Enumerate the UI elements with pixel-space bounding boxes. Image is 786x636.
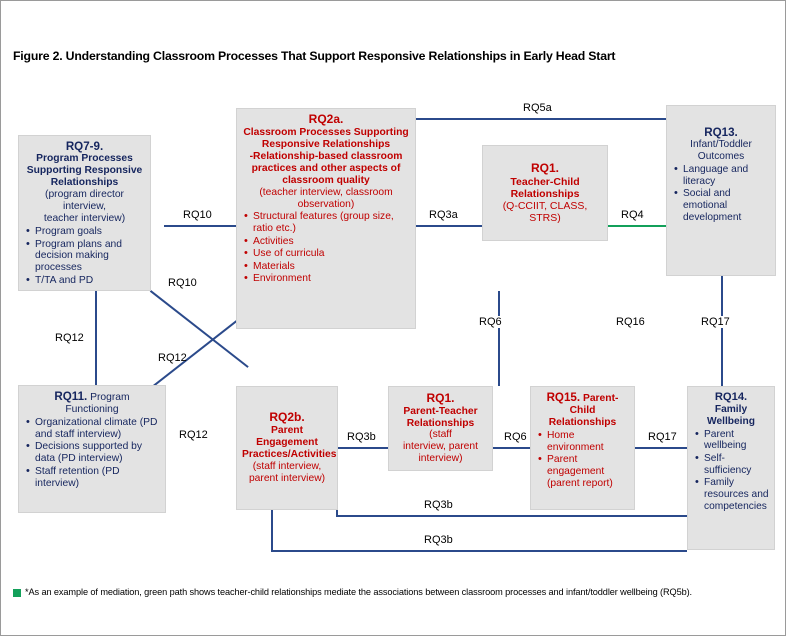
box-rq2b-source-1: parent interview) <box>242 473 332 485</box>
list-item: Materials <box>253 261 410 273</box>
box-rq11-bullets: Organizational climate (PD and staff int… <box>24 417 160 490</box>
list-item: Language and literacy <box>683 164 770 188</box>
edge-label-rq3b-upper: RQ3b <box>345 431 378 443</box>
edge-line-rq3a <box>415 225 482 227</box>
list-item: Home environment <box>547 430 629 454</box>
box-rq14[interactable]: RQ14. Family Wellbeing Parent wellbeing … <box>687 386 775 550</box>
edge-label-rq4: RQ4 <box>619 209 646 221</box>
box-rq1-pt-heading-inline: Relationships (staff <box>394 418 487 442</box>
list-item: Staff retention (PD interview) <box>35 466 160 490</box>
box-rq1-tc-id: RQ1. <box>488 162 602 176</box>
edge-label-rq10-upper: RQ10 <box>181 209 214 221</box>
box-rq2a-source-1: observation) <box>242 199 410 211</box>
edge-line-rq4-green <box>608 225 666 227</box>
box-rq2a-title-4: classroom quality <box>242 175 410 187</box>
edge-line-rq3b-bottom <box>271 550 687 552</box>
edge-line-rq3b-middle <box>338 515 687 517</box>
footnote: *As an example of mediation, green path … <box>13 587 775 597</box>
box-rq1-pt-source-0: (staff <box>429 429 452 440</box>
edge-label-rq6-horizontal: RQ6 <box>502 431 529 443</box>
box-rq13-id: RQ13. <box>672 126 770 139</box>
list-item: Parent wellbeing <box>704 429 769 453</box>
box-rq13-title-1: Outcomes <box>672 151 770 163</box>
box-rq1-tc-source-0: (Q-CCIIT, CLASS, STRS) <box>488 200 602 224</box>
box-rq14-id: RQ14. <box>693 391 769 404</box>
footnote-text: *As an example of mediation, green path … <box>25 587 692 597</box>
box-rq2b-title-1: Practices/Activities <box>242 449 332 461</box>
box-rq2a-title-2: -Relationship-based classroom <box>242 151 410 163</box>
box-rq7-9-id: RQ7-9. <box>24 140 145 153</box>
box-rq1-pt-title-0: Parent-Teacher <box>394 406 487 418</box>
list-item: Program plans and decision making proces… <box>35 239 145 275</box>
edge-label-rq12-lower: RQ12 <box>177 429 210 441</box>
edge-label-rq17-horizontal: RQ17 <box>646 431 679 443</box>
list-item: Environment <box>253 273 410 285</box>
edge-line-rq17-horizontal <box>635 447 687 449</box>
box-rq15[interactable]: RQ15. Parent- Child Relationships Home e… <box>530 386 635 510</box>
box-rq7-9-bullets: Program goals Program plans and decision… <box>24 226 145 287</box>
box-rq15-title-1: Relationships <box>536 417 629 429</box>
box-rq1-pt-source-2: interview) <box>394 453 487 465</box>
box-rq15-bullets: Home environment Parent engagement (pare… <box>536 430 629 490</box>
box-rq14-title-1: Wellbeing <box>693 416 769 428</box>
box-rq1-tc-title-0: Teacher-Child <box>488 176 602 188</box>
box-rq2b-title-0: Parent Engagement <box>242 425 332 449</box>
list-item: Self-sufficiency <box>704 453 769 477</box>
page-title: Figure 2. Understanding Classroom Proces… <box>13 49 753 63</box>
edge-label-rq16: RQ16 <box>614 316 647 328</box>
edge-line-rq6-horizontal <box>493 447 530 449</box>
edge-label-rq12-vertical: RQ12 <box>53 332 86 344</box>
list-item: Program goals <box>35 226 145 238</box>
box-rq13-title-0: Infant/Toddler <box>672 139 770 151</box>
box-rq11-title-0: Functioning <box>24 404 160 416</box>
list-item: Use of curricula <box>253 248 410 260</box>
box-rq2b-source-0: (staff interview, <box>242 461 332 473</box>
box-rq2a-source-0: (teacher interview, classroom <box>242 187 410 199</box>
box-rq2a-title-3: practices and other aspects of <box>242 163 410 175</box>
edge-label-rq12-diagonal: RQ12 <box>156 352 189 364</box>
box-rq13-bullets: Language and literacy Social and emotion… <box>672 164 770 224</box>
box-rq1-parent-teacher[interactable]: RQ1. Parent-Teacher Relationships (staff… <box>388 386 493 471</box>
edge-label-rq3b-middle: RQ3b <box>422 499 455 511</box>
box-rq15-id: RQ15. <box>547 391 581 404</box>
box-rq2b-id: RQ2b. <box>242 411 332 425</box>
edge-line-rq12-vertical <box>95 290 97 385</box>
box-rq1-tc-title-1: Relationships <box>488 188 602 200</box>
box-rq7-9-source-1: teacher interview) <box>24 213 145 225</box>
box-rq1-pt-id: RQ1. <box>394 392 487 406</box>
green-square-icon <box>13 589 21 597</box>
list-item: Organizational climate (PD and staff int… <box>35 417 160 441</box>
edge-label-rq6-vertical: RQ6 <box>477 316 504 328</box>
box-rq11-heading: RQ11. Program <box>24 390 160 404</box>
box-rq14-title-0: Family <box>693 404 769 416</box>
box-rq2a-title-0: Classroom Processes Supporting <box>242 127 410 139</box>
box-rq1-pt-title-inline: Relationships <box>407 418 475 429</box>
box-rq2a-bullets: Structural features (group size, ratio e… <box>242 211 410 285</box>
box-rq7-9[interactable]: RQ7-9. Program Processes Supporting Resp… <box>18 135 151 291</box>
box-rq2b[interactable]: RQ2b. Parent Engagement Practices/Activi… <box>236 386 338 510</box>
list-item: Parent engagement (parent report) <box>547 454 629 490</box>
box-rq2a-title-1: Responsive Relationships <box>242 139 410 151</box>
edge-line-rq6-vertical <box>498 291 500 386</box>
list-item: Family resources and competencies <box>704 477 769 512</box>
box-rq2a-id: RQ2a. <box>242 113 410 127</box>
box-rq11-id-suffix: Program <box>90 392 129 403</box>
box-rq14-bullets: Parent wellbeing Self-sufficiency Family… <box>693 429 769 513</box>
list-item: Structural features (group size, ratio e… <box>253 211 410 235</box>
box-rq7-9-source-0: (program director interview, <box>24 189 145 213</box>
list-item: Decisions supported by data (PD intervie… <box>35 441 160 465</box>
box-rq2a[interactable]: RQ2a. Classroom Processes Supporting Res… <box>236 108 416 329</box>
edge-label-rq17-vertical: RQ17 <box>699 316 732 328</box>
edge-label-rq5a: RQ5a <box>521 102 554 114</box>
box-rq11-id: RQ11. <box>54 390 87 403</box>
box-rq7-9-title-0: Program Processes <box>24 153 145 165</box>
edge-label-rq3b-bottom: RQ3b <box>422 534 455 546</box>
box-rq13[interactable]: RQ13. Infant/Toddler Outcomes Language a… <box>666 105 776 276</box>
box-rq15-heading: RQ15. Parent- <box>536 391 629 405</box>
edge-line-rq10-upper <box>164 225 236 227</box>
list-item: Activities <box>253 236 410 248</box>
edge-line-rq5a <box>415 118 666 120</box>
edge-line-rq3b-upper <box>338 447 388 449</box>
list-item: T/TA and PD <box>35 275 145 287</box>
box-rq7-9-title-2: Relationships <box>24 177 145 189</box>
box-rq1-teacher-child[interactable]: RQ1. Teacher-Child Relationships (Q-CCII… <box>482 145 608 241</box>
box-rq7-9-title-1: Supporting Responsive <box>24 165 145 177</box>
edge-label-rq10-diagonal: RQ10 <box>166 277 199 289</box>
edge-line-rq17-vertical <box>721 276 723 386</box>
figure-canvas: Figure 2. Understanding Classroom Proces… <box>0 0 786 636</box>
list-item: Social and emotional development <box>683 188 770 223</box>
box-rq1-pt-source-1: interview, parent <box>394 441 487 453</box>
box-rq11[interactable]: RQ11. Program Functioning Organizational… <box>18 385 166 513</box>
box-rq15-title-0: Child <box>536 405 629 417</box>
edge-label-rq3a: RQ3a <box>427 209 460 221</box>
box-rq15-id-suffix: Parent- <box>583 393 618 404</box>
edge-line-rq3b-bottom-riser <box>271 510 273 552</box>
